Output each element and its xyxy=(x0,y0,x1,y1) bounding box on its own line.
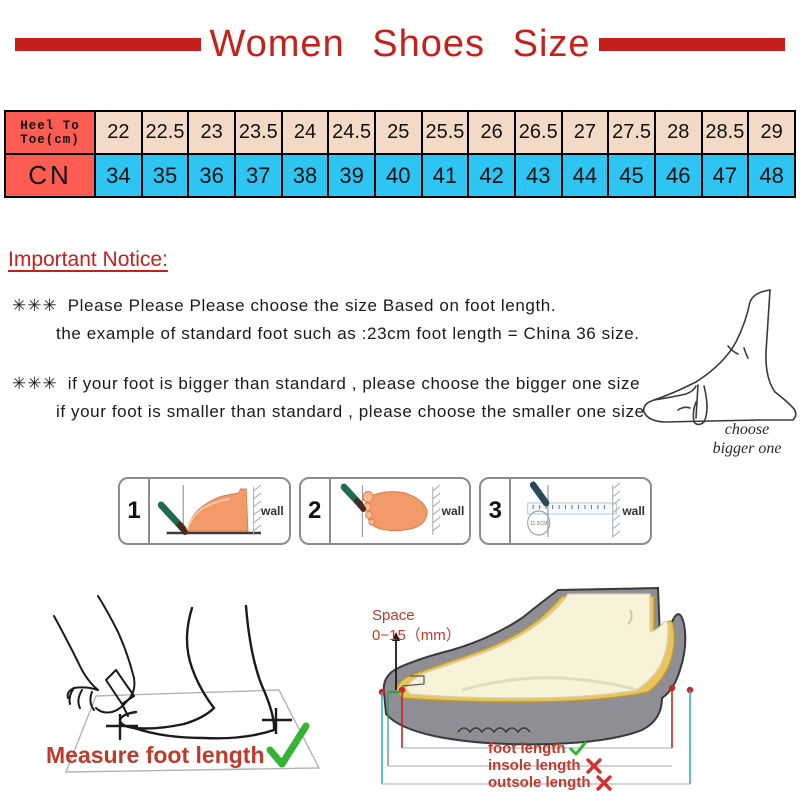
cell-cn: 41 xyxy=(422,154,469,197)
step-3-illustration: 3 xyxy=(481,479,650,543)
notice-line-4: if your foot is smaller than standard , … xyxy=(12,398,692,426)
measuring-steps: 1 xyxy=(118,477,652,545)
notice-body: ✳✳✳Please Please Please choose the size … xyxy=(12,292,692,426)
cell-cn: 46 xyxy=(655,154,702,197)
notice-line-1-text: Please Please Please choose the size Bas… xyxy=(68,296,556,315)
step-3-wall-label: wall xyxy=(622,504,645,518)
cell-cm: 25.5 xyxy=(422,111,469,154)
space-label-line2: 0−15（mm） xyxy=(372,626,461,646)
cell-cn: 37 xyxy=(235,154,282,197)
step-2-illustration: wall xyxy=(331,479,470,543)
notice-line-3: ✳✳✳if your foot is bigger than standard … xyxy=(12,370,692,398)
choose-caption-line2: bigger one xyxy=(692,439,800,458)
cell-cm: 23 xyxy=(188,111,235,154)
wall-hatch-icon xyxy=(254,485,261,535)
wall-hatch-icon xyxy=(432,485,439,535)
choose-bigger-one-caption: choose bigger one xyxy=(692,420,800,458)
pencil-icon xyxy=(534,485,547,503)
cell-cn: 34 xyxy=(95,154,142,197)
cell-cm: 22.5 xyxy=(142,111,189,154)
step-2-number: 2 xyxy=(301,479,331,543)
notice-spacer xyxy=(12,348,692,370)
size-chart-page: Women Shoes Size Heel To Toe(cm) 22 22.5… xyxy=(0,0,800,800)
cell-cn: 40 xyxy=(375,154,422,197)
notice-line-3-text: if your foot is bigger than standard , p… xyxy=(68,374,640,393)
cell-cm: 24 xyxy=(282,111,329,154)
step-2: 2 xyxy=(299,477,472,545)
red-cross-icon xyxy=(584,758,604,774)
cell-cm: 29 xyxy=(748,111,795,154)
cell-cm: 26.5 xyxy=(515,111,562,154)
cell-cn: 39 xyxy=(328,154,375,197)
title-word-women: Women xyxy=(209,23,344,65)
insole-length-label-row: insole length xyxy=(488,757,718,774)
choose-caption-line1: choose xyxy=(692,420,800,439)
cell-cm: 22 xyxy=(95,111,142,154)
row-header-cn: CN xyxy=(5,154,95,197)
row-header-heel-to-toe: Heel To Toe(cm) xyxy=(5,111,95,154)
space-label-line1: Space xyxy=(372,606,461,626)
cell-cm: 23.5 xyxy=(235,111,282,154)
notice-line-1: ✳✳✳Please Please Please choose the size … xyxy=(12,292,692,320)
step-1: 1 xyxy=(118,477,291,545)
foot-length-label: foot length xyxy=(488,740,565,757)
title-rule-right xyxy=(599,38,785,51)
measure-foot-caption: Measure foot length xyxy=(46,742,265,769)
bullet-marker-icon: ✳✳✳ xyxy=(12,374,58,393)
step-1-illustration: wall xyxy=(150,479,289,543)
bullet-marker-icon: ✳✳✳ xyxy=(12,296,58,315)
step-3-measure-text: 11.5CM xyxy=(530,521,547,527)
cell-cm: 27.5 xyxy=(608,111,655,154)
important-notice-heading: Important Notice: xyxy=(8,248,168,272)
cell-cn: 44 xyxy=(562,154,609,197)
page-title: Women Shoes Size xyxy=(0,18,800,70)
cell-cn: 43 xyxy=(515,154,562,197)
cell-cn: 36 xyxy=(188,154,235,197)
space-label: Space 0−15（mm） xyxy=(372,606,461,646)
page-title-text: Women Shoes Size xyxy=(209,25,590,63)
cell-cm: 25 xyxy=(375,111,422,154)
cell-cn: 42 xyxy=(468,154,515,197)
cell-cm: 26 xyxy=(468,111,515,154)
notice-line-2: the example of standard foot such as :23… xyxy=(12,320,692,348)
title-word-shoes: Shoes xyxy=(372,23,485,65)
size-conversion-table: Heel To Toe(cm) 22 22.5 23 23.5 24 24.5 … xyxy=(4,110,796,198)
step-1-number: 1 xyxy=(120,479,150,543)
step-3: 3 xyxy=(479,477,652,545)
outsole-length-label-row: outsole length xyxy=(488,774,718,791)
cell-cn: 45 xyxy=(608,154,655,197)
table-row-heel-to-toe: Heel To Toe(cm) 22 22.5 23 23.5 24 24.5 … xyxy=(5,111,795,154)
length-labels: foot length insole length outsole length xyxy=(488,740,718,791)
table-row-cn: CN 34 35 36 37 38 39 40 41 42 43 44 45 4… xyxy=(5,154,795,197)
step-2-wall-label: wall xyxy=(442,504,465,518)
green-check-icon xyxy=(568,741,588,757)
step-3-number: 3 xyxy=(481,479,511,543)
pencil-icon xyxy=(344,487,363,509)
foot-length-label-row: foot length xyxy=(488,740,718,757)
cell-cm: 27 xyxy=(562,111,609,154)
insole-length-label: insole length xyxy=(488,757,581,774)
title-word-size: Size xyxy=(513,23,591,65)
cell-cm: 28 xyxy=(655,111,702,154)
foot-outline-sketch-icon xyxy=(638,282,800,442)
cell-cm: 24.5 xyxy=(328,111,375,154)
cell-cn: 38 xyxy=(282,154,329,197)
outsole-length-label: outsole length xyxy=(488,774,591,791)
cell-cn: 48 xyxy=(748,154,795,197)
red-cross-icon xyxy=(594,775,614,791)
cell-cm: 28.5 xyxy=(702,111,749,154)
cell-cn: 47 xyxy=(702,154,749,197)
title-rule-left xyxy=(15,38,201,51)
cell-cn: 35 xyxy=(142,154,189,197)
pencil-icon xyxy=(161,505,185,532)
step-1-wall-label: wall xyxy=(261,504,284,518)
